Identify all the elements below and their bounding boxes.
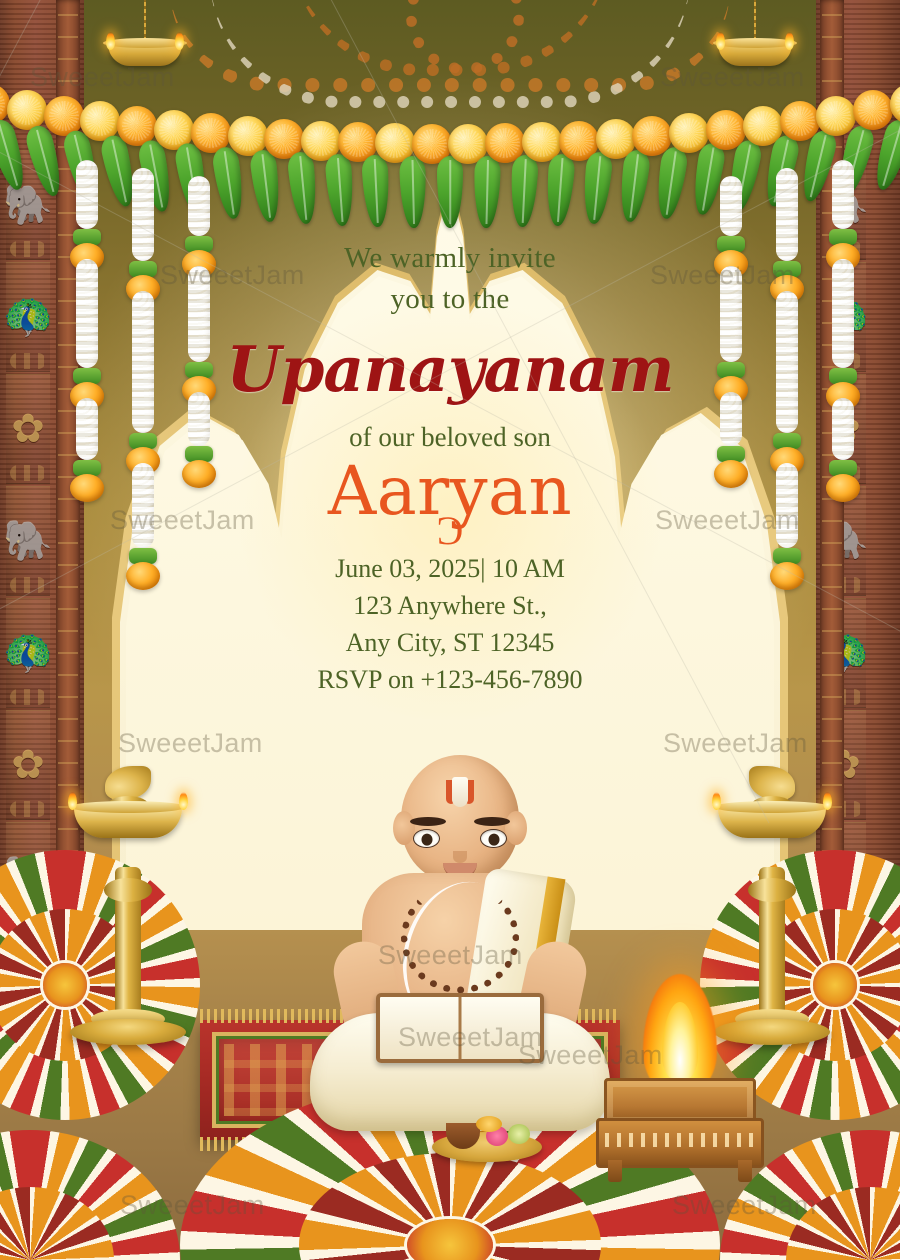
hanging-diya-left bbox=[100, 0, 190, 98]
panel-tile-peacock: 🦚 bbox=[6, 598, 50, 708]
page-title: Upanayanam bbox=[120, 332, 780, 406]
panel-tile-floral: ✿ bbox=[6, 374, 50, 484]
flower-icon: ✿ bbox=[11, 745, 45, 785]
lamp-flame bbox=[823, 792, 832, 810]
offering-flower-green bbox=[508, 1124, 530, 1144]
event-date-time: June 03, 2025| 10 AM bbox=[120, 551, 780, 588]
boy-ear-right bbox=[505, 811, 527, 845]
jasmine-segment bbox=[188, 266, 210, 362]
panel-scroll bbox=[10, 801, 46, 817]
jasmine-segment bbox=[832, 398, 854, 460]
lamp-base bbox=[70, 1019, 186, 1045]
havan-leg bbox=[608, 1160, 622, 1182]
diya-flame bbox=[175, 32, 184, 50]
event-address-line-1: 123 Anywhere St., bbox=[120, 588, 780, 625]
lamp-mid-bulb bbox=[748, 878, 796, 902]
marigold-cluster bbox=[182, 460, 216, 488]
panel-tile-floral: ✿ bbox=[6, 710, 50, 820]
jasmine-segment bbox=[132, 168, 154, 261]
mango-leaf bbox=[211, 145, 247, 220]
jasmine-segment bbox=[76, 259, 98, 368]
panel-scroll bbox=[10, 577, 46, 593]
jasmine-segment bbox=[832, 160, 854, 229]
flower-icon: ✿ bbox=[11, 409, 45, 449]
greeting-line-1: We warmly invite bbox=[120, 238, 780, 279]
marigold-flower bbox=[853, 90, 893, 130]
boy-ear-left bbox=[393, 811, 415, 845]
diya-flame bbox=[785, 32, 794, 50]
mango-leaf bbox=[581, 151, 614, 225]
lamp-flame bbox=[68, 792, 77, 810]
lamp-flame bbox=[179, 792, 188, 810]
diya-flame bbox=[716, 32, 725, 50]
havan-kund-fire-altar bbox=[596, 1078, 764, 1186]
boy-pupil bbox=[488, 833, 499, 845]
marigold-flower bbox=[890, 84, 900, 124]
mango-leaf bbox=[286, 151, 319, 225]
panel-tile-elephant: 🐘 bbox=[6, 486, 50, 596]
jasmine-marigold-strand bbox=[184, 176, 214, 476]
kuthu-vilakku-left bbox=[58, 760, 198, 1045]
boy-pupil bbox=[421, 833, 432, 845]
boy-nose bbox=[453, 851, 467, 863]
jasmine-marigold-strand bbox=[772, 168, 802, 578]
diya-bowl bbox=[108, 44, 182, 66]
lamp-base bbox=[714, 1019, 830, 1045]
relation-text: of our beloved son bbox=[120, 422, 780, 453]
elephant-icon: 🐘 bbox=[3, 521, 53, 561]
jasmine-marigold-strand bbox=[72, 160, 102, 490]
open-scripture-book bbox=[376, 993, 544, 1063]
jasmine-segment bbox=[188, 176, 210, 236]
boy-brow-left bbox=[410, 817, 446, 826]
event-address-line-2: Any City, ST 12345 bbox=[120, 625, 780, 662]
jasmine-segment bbox=[132, 291, 154, 433]
puja-thali bbox=[432, 1132, 542, 1162]
marigold-cluster bbox=[70, 474, 104, 502]
upanayanam-boy bbox=[330, 755, 590, 1085]
jasmine-segment bbox=[720, 392, 742, 446]
greeting-line-2: you to the bbox=[120, 279, 780, 320]
lamp-mid-bulb bbox=[104, 878, 152, 902]
jasmine-segment bbox=[720, 266, 742, 362]
mango-leaf bbox=[617, 148, 651, 223]
kuthu-vilakku-right bbox=[702, 760, 842, 1045]
lamp-oil-dish bbox=[718, 808, 826, 838]
jasmine-marigold-strand bbox=[716, 176, 746, 476]
offering-turmeric bbox=[476, 1116, 502, 1132]
peacock-finial-icon bbox=[105, 766, 151, 800]
panel-scroll bbox=[10, 353, 46, 369]
boy-eye-left bbox=[413, 829, 440, 848]
jasmine-marigold-strand bbox=[828, 160, 858, 490]
panel-scroll bbox=[10, 241, 46, 257]
diya-flame bbox=[106, 32, 115, 50]
jasmine-segment bbox=[132, 463, 154, 548]
marigold-flower bbox=[7, 90, 47, 130]
marigold-cluster bbox=[770, 562, 804, 590]
jasmine-marigold-strand bbox=[128, 168, 158, 578]
kumkum-pot bbox=[446, 1123, 480, 1149]
invitation-text-block: We warmly invite you to the Upanayanam o… bbox=[120, 238, 780, 699]
diya-bowl bbox=[718, 44, 792, 66]
lamp-oil-dish bbox=[74, 808, 182, 838]
invitation-card: 🐘 🦚 ✿ 🐘 🦚 ✿ 🐘 🐘 🦚 ✿ 🐘 🦚 ✿ 🐘 We warmly in… bbox=[0, 0, 900, 1260]
marigold-cluster bbox=[826, 474, 860, 502]
hanging-diya-right bbox=[710, 0, 800, 98]
jasmine-segment bbox=[776, 463, 798, 548]
peacock-icon: 🦚 bbox=[3, 633, 53, 673]
marigold-cluster bbox=[714, 460, 748, 488]
jasmine-segment bbox=[832, 259, 854, 368]
panel-tile-peacock: 🦚 bbox=[6, 262, 50, 372]
havan-leg bbox=[738, 1160, 752, 1182]
peacock-finial-icon bbox=[749, 766, 795, 800]
flourish-ornament: Ɔ bbox=[120, 523, 780, 539]
boy-eye-right bbox=[480, 829, 507, 848]
peacock-icon: 🦚 bbox=[3, 297, 53, 337]
panel-scroll bbox=[10, 689, 46, 705]
tilak-icon bbox=[452, 777, 468, 807]
jasmine-segment bbox=[188, 392, 210, 446]
mango-leaf bbox=[249, 148, 283, 223]
jasmine-segment bbox=[720, 176, 742, 236]
jasmine-segment bbox=[76, 160, 98, 229]
mango-leaf bbox=[653, 145, 689, 220]
jasmine-segment bbox=[776, 168, 798, 261]
rudraksha-mala-icon bbox=[401, 883, 519, 993]
jasmine-segment bbox=[776, 291, 798, 433]
boy-brow-right bbox=[474, 817, 510, 826]
jasmine-segment bbox=[76, 398, 98, 460]
panel-scroll bbox=[10, 465, 46, 481]
marigold-cluster bbox=[126, 562, 160, 590]
lamp-flame bbox=[712, 792, 721, 810]
rsvp-contact: RSVP on +123-456-7890 bbox=[120, 662, 780, 699]
